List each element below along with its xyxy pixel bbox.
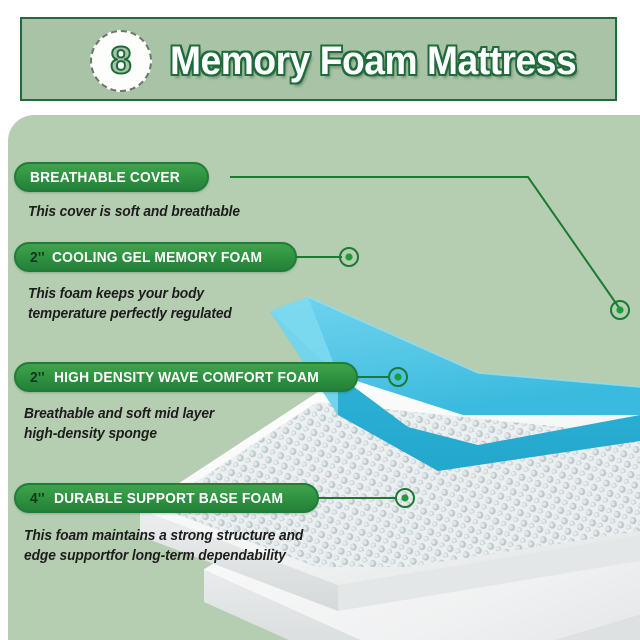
page-title: Memory Foam Mattress — [170, 33, 579, 89]
layer-label-text: DURABLE SUPPORT BASE FOAM — [54, 490, 283, 507]
layer-label-durable-support-base-foam[interactable]: 4'' DURABLE SUPPORT BASE FOAM — [14, 483, 319, 513]
layer-label-text: COOLING GEL MEMORY FOAM — [52, 249, 262, 266]
layer-description-durable-support-base-foam: This foam maintains a strong structure a… — [24, 527, 309, 566]
header-bar: 8 Memory Foam Mattress — [20, 17, 617, 101]
layer-thickness: 2'' — [30, 249, 45, 266]
layer-label-cooling-gel-memory-foam[interactable]: 2'' COOLING GEL MEMORY FOAM — [14, 242, 297, 272]
layer-description-high-density-wave-comfort-foam: Breathable and soft mid layer high-densi… — [24, 405, 281, 444]
marker-cooling-gel — [340, 248, 358, 266]
marker-breathable-cover — [611, 301, 629, 319]
layer-thickness: 2'' — [30, 369, 45, 386]
step-number-badge: 8 — [90, 30, 152, 92]
layer-label-text: BREATHABLE COVER — [30, 169, 180, 186]
layer-description-breathable-cover: This cover is soft and breathable — [28, 203, 266, 223]
layer-label-breathable-cover[interactable]: BREATHABLE COVER — [14, 162, 209, 192]
step-number: 8 — [92, 32, 150, 90]
infographic-page: 8 Memory Foam Mattress — [0, 0, 640, 640]
layer-thickness: 4'' — [30, 490, 45, 507]
main-panel: BREATHABLE COVER This cover is soft and … — [8, 115, 640, 640]
layer-label-text: HIGH DENSITY WAVE COMFORT FOAM — [54, 369, 319, 386]
layer-label-high-density-wave-comfort-foam[interactable]: 2'' HIGH DENSITY WAVE COMFORT FOAM — [14, 362, 358, 392]
layer-description-cooling-gel-memory-foam: This foam keeps your body temperature pe… — [28, 285, 275, 324]
